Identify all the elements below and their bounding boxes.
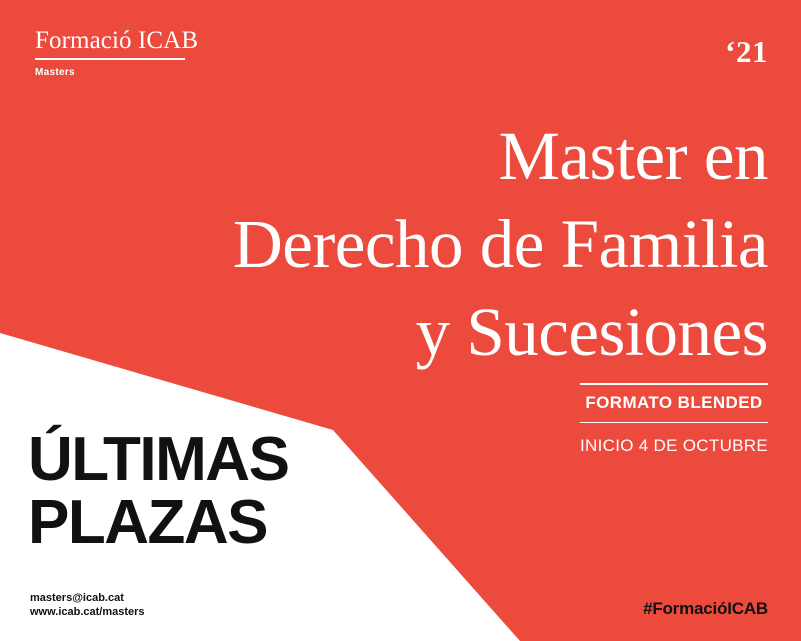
contact-info: masters@icab.cat www.icab.cat/masters [30, 591, 145, 619]
social-hashtag: #FormacióICAB [643, 599, 768, 619]
format-label: FORMATO BLENDED [580, 385, 768, 422]
poster-canvas: Formació ICAB Masters ‘21 Master en Dere… [0, 0, 801, 641]
logo-underline-rule [35, 58, 185, 60]
year-badge: ‘21 [725, 34, 768, 70]
logo-wordmark: Formació ICAB [35, 28, 198, 54]
title-line-1: Master en [28, 112, 768, 200]
promo-headline: ÚLTIMAS PLAZAS [28, 428, 288, 554]
logo-subtitle: Masters [35, 67, 198, 78]
program-info: FORMATO BLENDED INICIO 4 DE OCTUBRE [580, 383, 768, 456]
title-line-2: Derecho de Familia [28, 200, 768, 288]
contact-email[interactable]: masters@icab.cat [30, 591, 145, 605]
start-date-label: INICIO 4 DE OCTUBRE [580, 423, 768, 456]
title-line-3: y Sucesiones [28, 288, 768, 376]
contact-website[interactable]: www.icab.cat/masters [30, 605, 145, 619]
brand-logo: Formació ICAB Masters [35, 28, 198, 78]
headline-line-1: ÚLTIMAS [28, 428, 288, 491]
headline-line-2: PLAZAS [28, 491, 288, 554]
program-title: Master en Derecho de Familia y Sucesione… [28, 112, 768, 376]
